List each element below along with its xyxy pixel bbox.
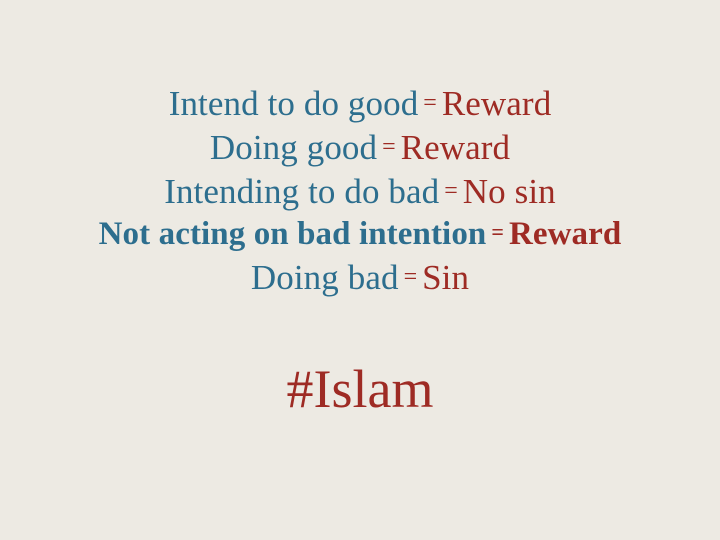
equals-sign: = bbox=[418, 90, 442, 116]
equation-row: Intend to do good=Reward bbox=[0, 86, 720, 121]
equals-sign: = bbox=[439, 178, 463, 204]
equals-sign: = bbox=[399, 264, 423, 290]
equation-row: Doing bad=Sin bbox=[0, 260, 720, 295]
equals-sign: = bbox=[377, 134, 401, 160]
equation-list: Intend to do good=Reward Doing good=Rewa… bbox=[0, 86, 720, 304]
equals-sign: = bbox=[486, 219, 509, 244]
hashtag-label: #Islam bbox=[0, 362, 720, 416]
equation-outcome: Reward bbox=[509, 216, 621, 252]
equation-subject: Intend to do good bbox=[169, 84, 419, 123]
equation-outcome: No sin bbox=[463, 172, 556, 211]
equation-row: Doing good=Reward bbox=[0, 130, 720, 165]
equation-outcome: Reward bbox=[401, 128, 510, 167]
equation-subject: Not acting on bad intention bbox=[99, 216, 487, 252]
equation-subject: Intending to do bad bbox=[164, 172, 439, 211]
equation-row: Not acting on bad intention=Reward bbox=[0, 218, 720, 251]
equation-outcome: Sin bbox=[422, 258, 469, 297]
quote-poster: Intend to do good=Reward Doing good=Rewa… bbox=[0, 0, 720, 540]
equation-row: Intending to do bad=No sin bbox=[0, 174, 720, 209]
equation-subject: Doing bad bbox=[251, 258, 399, 297]
equation-subject: Doing good bbox=[210, 128, 377, 167]
equation-outcome: Reward bbox=[442, 84, 551, 123]
